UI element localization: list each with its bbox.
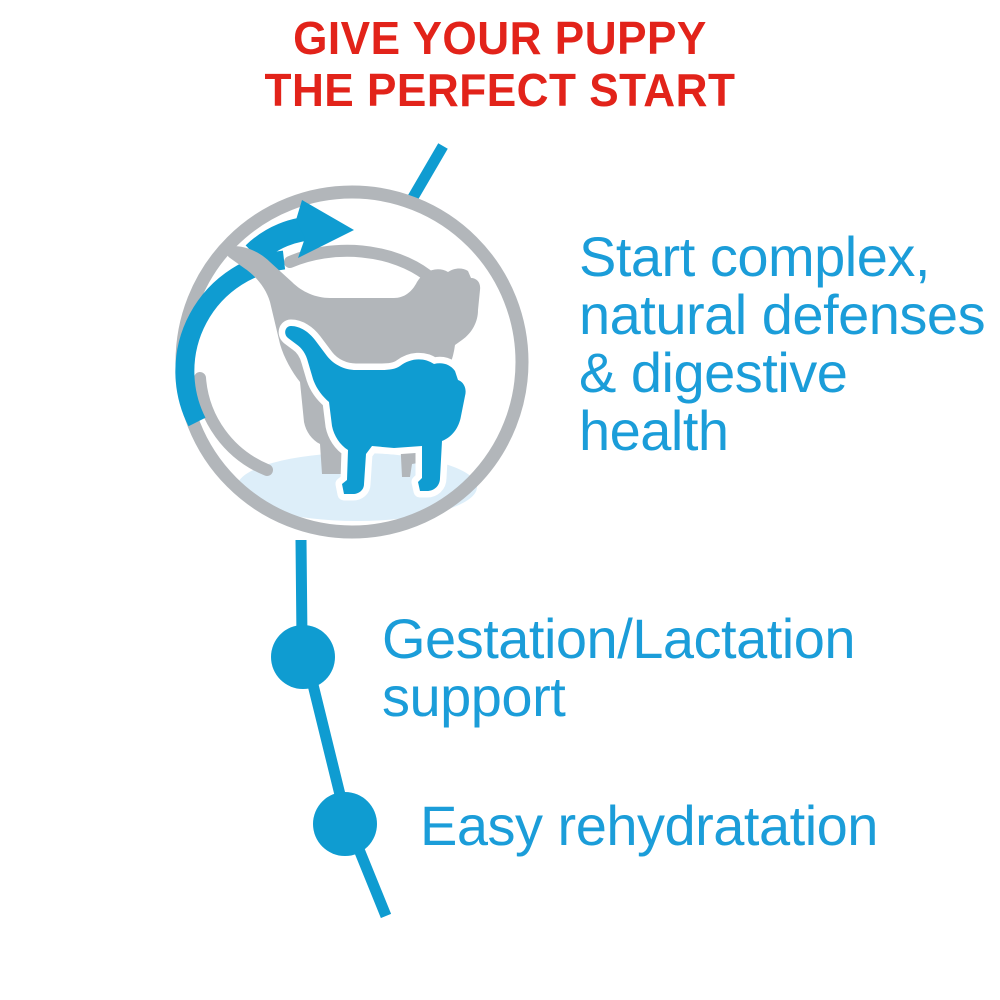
benefit-text-immune-digestive: Start complex, natural defenses & digest… <box>579 228 999 460</box>
page-title: GIVE YOUR PUPPY THE PERFECT START <box>20 12 980 116</box>
connector-node-1 <box>271 625 335 689</box>
page-title-line-1: GIVE YOUR PUPPY <box>20 12 980 64</box>
brand-footer <box>0 900 1000 1000</box>
benefit-text-rehydration: Easy rehydratation <box>420 797 990 855</box>
connector-main-line <box>301 540 386 916</box>
connector-node-2 <box>313 792 377 856</box>
puppy-benefits-panel: GIVE YOUR PUPPY THE PERFECT START <box>0 0 1000 1000</box>
growth-arc-grey <box>290 251 427 275</box>
benefit-text-gestation-lactation: Gestation/Lactation support <box>382 610 982 726</box>
mother-dog-and-puppy-circle-icon <box>172 182 532 542</box>
page-title-line-2: THE PERFECT START <box>20 64 980 116</box>
